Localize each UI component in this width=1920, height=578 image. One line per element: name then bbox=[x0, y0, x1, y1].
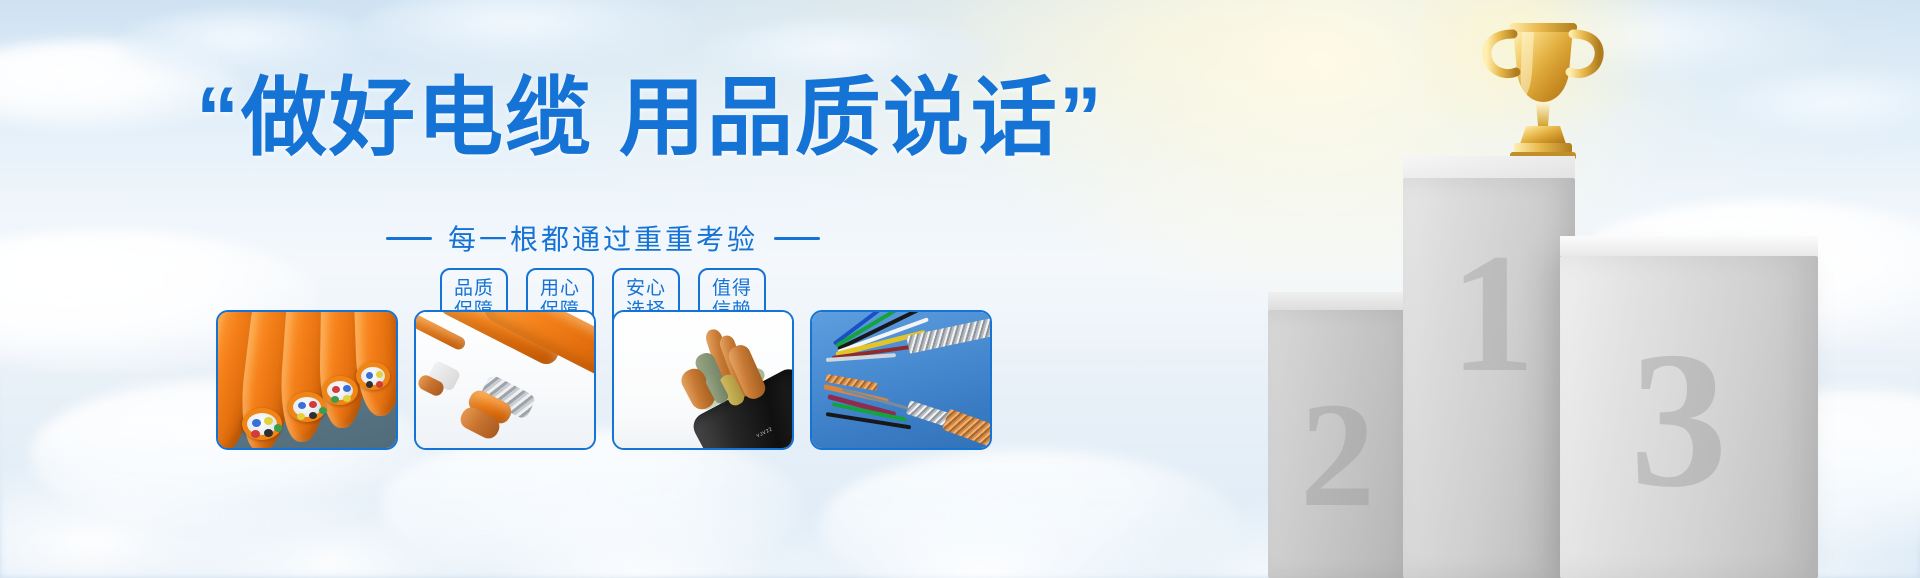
banner-content: “做好电缆 用品质说话” 每一根都通过重重考验 品质 保障 用心 保障 安心 选… bbox=[0, 0, 1100, 578]
podium-number-3: 3 bbox=[1630, 323, 1728, 518]
product-thumbnail-multicolour-shielded-wires[interactable] bbox=[810, 310, 992, 450]
multicolour-shielded-wires-photo bbox=[812, 312, 990, 448]
banner-subtitle-row: 每一根都通过重重考验 bbox=[196, 218, 1010, 258]
badge-line-1: 安心 bbox=[626, 278, 666, 300]
banner-subtitle: 每一根都通过重重考验 bbox=[448, 218, 758, 258]
cable-quality-promo-banner: 2 1 3 “做好电缆 用品质说话” 每一根都通过重重考验 品质 保障 用心 保… bbox=[0, 0, 1920, 578]
product-thumbnail-row: YJV22 bbox=[216, 310, 992, 450]
orange-multicore-cable-photo bbox=[218, 312, 396, 448]
product-thumbnail-orange-shielded-cable[interactable] bbox=[414, 310, 596, 450]
product-thumbnail-orange-multicore-cable[interactable] bbox=[216, 310, 398, 450]
product-thumbnail-black-power-cable[interactable]: YJV22 bbox=[612, 310, 794, 450]
podium-top-first bbox=[1403, 156, 1575, 178]
podium-number-1: 1 bbox=[1450, 228, 1535, 398]
rule-left-icon bbox=[386, 237, 432, 240]
black-armoured-power-cable-photo: YJV22 bbox=[614, 312, 792, 448]
badge-line-1: 用心 bbox=[540, 278, 580, 300]
podium-and-trophy-graphic: 2 1 3 bbox=[1160, 0, 1920, 578]
banner-headline: “做好电缆 用品质说话” bbox=[196, 72, 1104, 165]
badge-line-1: 品质 bbox=[454, 278, 494, 300]
orange-shielded-cable-cutaway-photo bbox=[416, 312, 594, 448]
podium-top-second bbox=[1268, 292, 1418, 310]
rule-right-icon bbox=[774, 237, 820, 240]
gold-trophy-icon bbox=[1468, 14, 1618, 164]
podium-top-third bbox=[1560, 236, 1818, 256]
badge-line-1: 值得 bbox=[712, 278, 752, 300]
podium-number-2: 2 bbox=[1300, 380, 1375, 530]
